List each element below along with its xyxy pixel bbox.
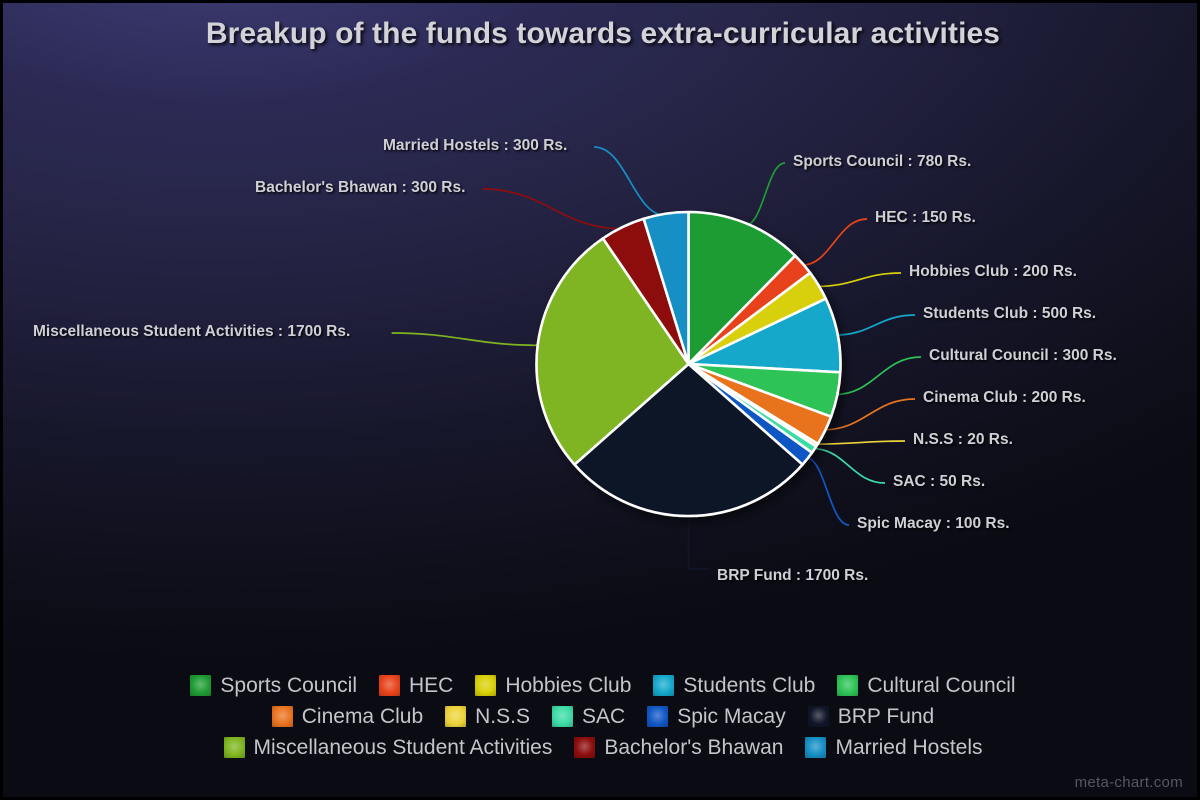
slice-label: Married Hostels : 300 Rs. — [383, 137, 567, 155]
slice-label: Miscellaneous Student Activities : 1700 … — [33, 323, 350, 341]
leader-line — [482, 189, 623, 229]
legend-swatch — [574, 737, 595, 758]
slice-label: BRP Fund : 1700 Rs. — [717, 567, 868, 585]
leader-line — [745, 163, 785, 225]
legend-item[interactable]: Spic Macay — [647, 706, 786, 727]
legend-label: Spic Macay — [677, 706, 786, 727]
slice-label: Spic Macay : 100 Rs. — [857, 515, 1010, 533]
leader-line — [815, 441, 905, 444]
legend-label: Students Club — [683, 675, 815, 696]
legend-swatch — [224, 737, 245, 758]
legend-item[interactable]: N.S.S — [445, 706, 530, 727]
legend-item[interactable]: Cinema Club — [272, 706, 423, 727]
legend-item[interactable]: HEC — [379, 675, 453, 696]
legend-item[interactable]: Sports Council — [190, 675, 357, 696]
legend-row: Miscellaneous Student ActivitiesBachelor… — [27, 733, 1179, 761]
slice-label: Bachelor's Bhawan : 300 Rs. — [255, 179, 465, 197]
legend-swatch — [445, 706, 466, 727]
leader-line — [689, 514, 710, 569]
legend-item[interactable]: Cultural Council — [837, 675, 1015, 696]
slice-label: Cultural Council : 300 Rs. — [929, 347, 1117, 365]
leader-line — [802, 219, 868, 265]
legend-swatch — [805, 737, 826, 758]
legend-label: Cinema Club — [302, 706, 423, 727]
chart-legend: Sports CouncilHECHobbies ClubStudents Cl… — [3, 671, 1200, 761]
legend-label: Cultural Council — [867, 675, 1015, 696]
legend-swatch — [552, 706, 573, 727]
legend-swatch — [647, 706, 668, 727]
legend-label: N.S.S — [475, 706, 530, 727]
legend-swatch — [475, 675, 496, 696]
legend-label: BRP Fund — [838, 706, 935, 727]
slice-label: Hobbies Club : 200 Rs. — [909, 263, 1077, 281]
legend-label: Married Hostels — [835, 737, 982, 758]
pie-slices — [536, 212, 840, 516]
legend-swatch — [808, 706, 829, 727]
slice-label: N.S.S : 20 Rs. — [913, 431, 1013, 449]
slice-label: Cinema Club : 200 Rs. — [923, 389, 1086, 407]
legend-row: Cinema ClubN.S.SSACSpic MacayBRP Fund — [27, 702, 1179, 730]
watermark: meta-chart.com — [1075, 774, 1183, 791]
legend-label: HEC — [409, 675, 453, 696]
slice-label: SAC : 50 Rs. — [893, 473, 985, 491]
legend-item[interactable]: Hobbies Club — [475, 675, 631, 696]
legend-swatch — [653, 675, 674, 696]
legend-label: Hobbies Club — [505, 675, 631, 696]
legend-item[interactable]: Married Hostels — [805, 737, 982, 758]
leader-line — [594, 147, 666, 216]
legend-label: SAC — [582, 706, 625, 727]
legend-item[interactable]: Students Club — [653, 675, 815, 696]
legend-swatch — [379, 675, 400, 696]
leader-line — [823, 399, 915, 430]
legend-swatch — [272, 706, 293, 727]
legend-label: Bachelor's Bhawan — [604, 737, 783, 758]
slice-label: Sports Council : 780 Rs. — [793, 153, 971, 171]
legend-swatch — [190, 675, 211, 696]
legend-label: Miscellaneous Student Activities — [254, 737, 553, 758]
leader-line — [806, 458, 849, 526]
legend-item[interactable]: BRP Fund — [808, 706, 935, 727]
leader-line — [835, 357, 921, 395]
legend-item[interactable]: Bachelor's Bhawan — [574, 737, 783, 758]
legend-label: Sports Council — [220, 675, 357, 696]
slice-label: Students Club : 500 Rs. — [923, 305, 1096, 323]
legend-item[interactable]: SAC — [552, 706, 625, 727]
legend-row: Sports CouncilHECHobbies ClubStudents Cl… — [27, 671, 1179, 699]
leader-line — [817, 273, 901, 286]
leader-line — [392, 333, 540, 345]
slice-label: HEC : 150 Rs. — [875, 209, 976, 227]
legend-item[interactable]: Miscellaneous Student Activities — [224, 737, 553, 758]
chart-container: Breakup of the funds towards extra-curri… — [0, 0, 1200, 800]
legend-swatch — [837, 675, 858, 696]
leader-line — [836, 315, 915, 335]
